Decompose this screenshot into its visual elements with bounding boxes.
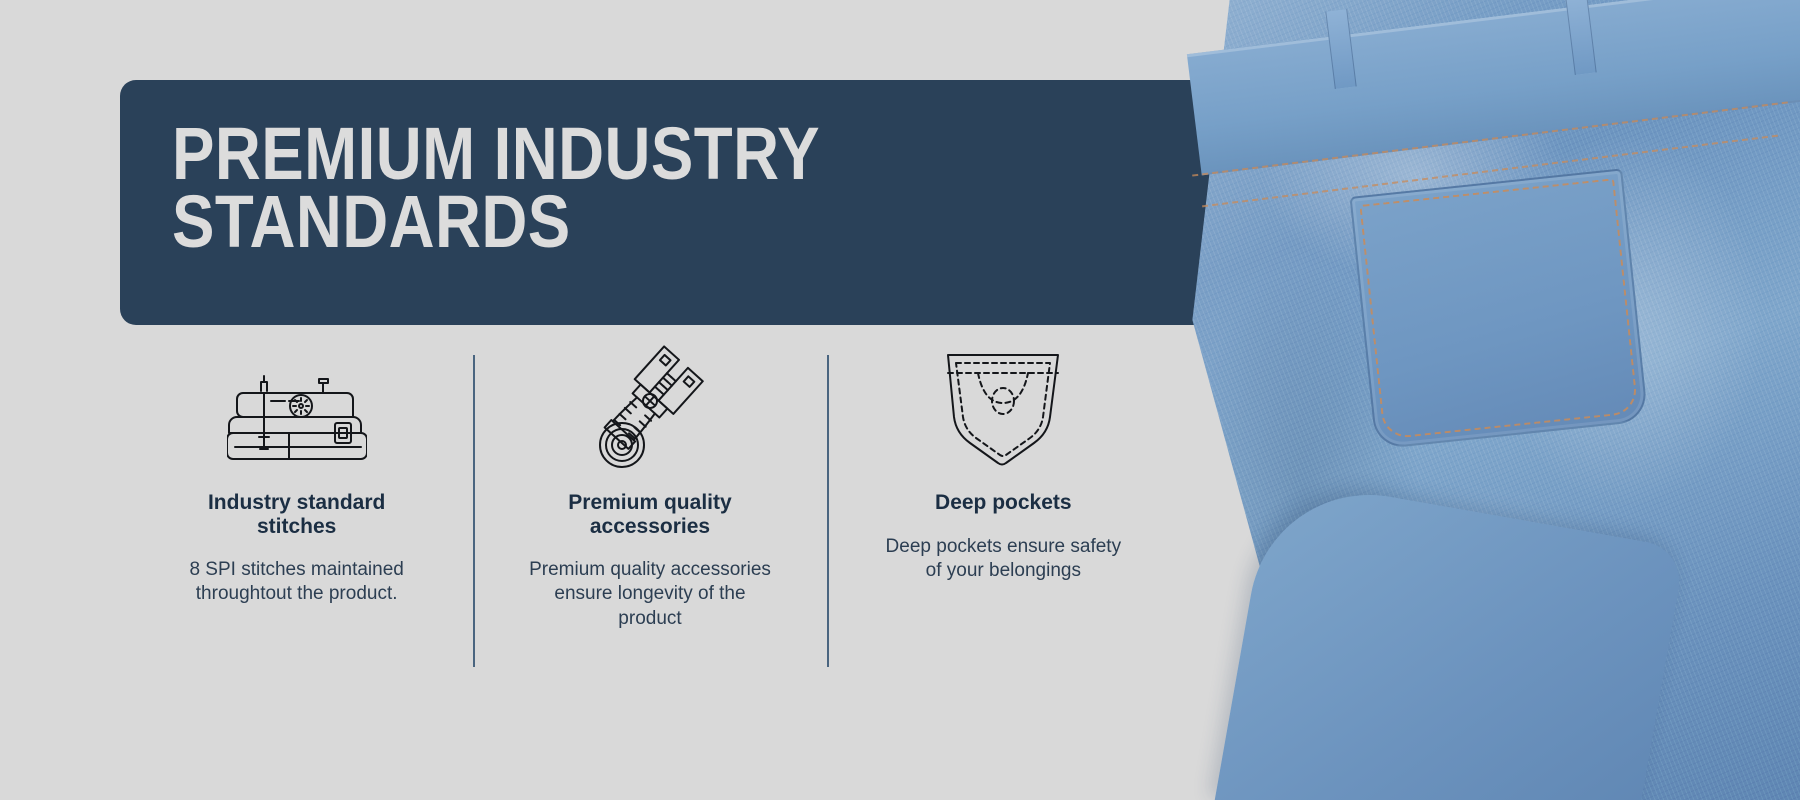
jeans-back-pocket — [1349, 168, 1648, 449]
feature-item-deep-pockets: Deep pockets Deep pockets ensure safety … — [827, 345, 1180, 655]
feature-description: Premium quality accessories ensure longe… — [527, 558, 772, 631]
zipper-and-thread-spool-icon — [580, 345, 720, 475]
feature-item-premium-quality-accessories: Premium quality accessories Premium qual… — [473, 345, 826, 655]
feature-title: Deep pockets — [935, 491, 1072, 515]
sewing-machine-icon — [227, 345, 367, 475]
feature-title: Industry standard stitches — [182, 491, 412, 538]
headline-panel: PREMIUM INDUSTRY STANDARDS — [120, 80, 1300, 325]
feature-description: Deep pockets ensure safety of your belon… — [881, 535, 1126, 584]
feature-list: Industry standard stitches 8 SPI stitche… — [120, 345, 1180, 655]
denim-jeans-photo — [1180, 0, 1800, 800]
feature-item-industry-standard-stitches: Industry standard stitches 8 SPI stitche… — [120, 345, 473, 655]
feature-title: Premium quality accessories — [535, 491, 765, 538]
jeans-pocket-icon — [938, 345, 1068, 475]
pocket-stitching — [1359, 178, 1638, 439]
promo-banner: PREMIUM INDUSTRY STANDARDS — [0, 0, 1800, 800]
feature-description: 8 SPI stitches maintained throughtout th… — [174, 558, 419, 607]
page-title: PREMIUM INDUSTRY STANDARDS — [172, 120, 860, 256]
